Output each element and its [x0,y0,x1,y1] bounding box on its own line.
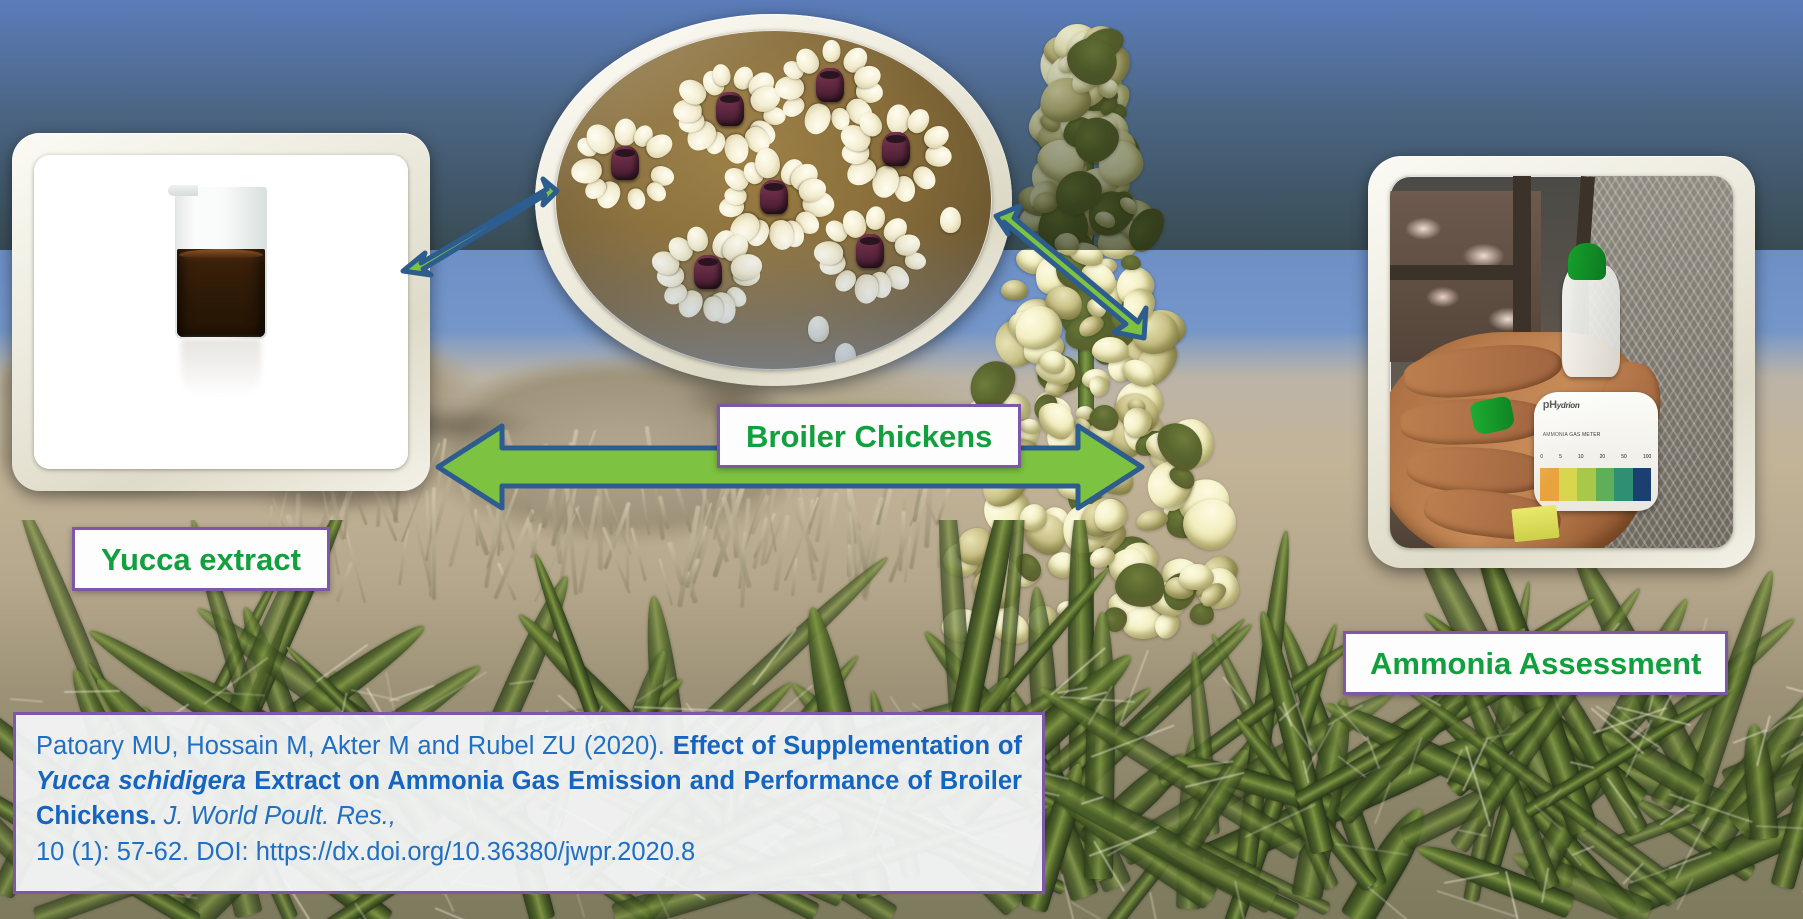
ph-swatch [1559,468,1578,501]
ph-swatch [1540,468,1559,501]
yucca-extract-image [34,155,408,469]
leaf-filament [1149,892,1165,919]
chick-feeder [856,234,884,268]
citation-paragraph-2: 10 (1): 57-62. DOI: https://dx.doi.org/1… [36,835,1022,870]
broiler-chickens-panel[interactable] [535,14,1012,386]
ph-test-card: pHydrion AMMONIA GAS METER 05102050100 [1534,392,1657,511]
extract-liquid [177,249,265,337]
ph-scale-value: 0 [1540,454,1543,460]
ph-scale-numbers: 05102050100 [1540,454,1651,460]
ammonia-assessment-image: pHydrion AMMONIA GAS METER 05102050100 [1390,176,1733,548]
leaf-filament [435,907,515,919]
ph-scale-value: 100 [1643,454,1651,460]
ph-brand-ph: pH [1543,399,1557,411]
ph-swatch [1596,468,1615,501]
chick-feeder [760,180,788,214]
broiler-chickens-image [555,30,992,370]
beaker [175,187,267,339]
leaf-filament [10,698,43,703]
citation-doi-label: DOI: [196,838,248,866]
reagent-bottle [1562,265,1620,377]
citation-box: Patoary MU, Hossain M, Akter M and Rubel… [13,712,1045,894]
label-broiler-chickens-text: Broiler Chickens [746,421,992,452]
beaker-spout [168,185,198,196]
beaker-reflection [181,339,261,397]
ammonia-assessment-panel[interactable]: pHydrion AMMONIA GAS METER 05102050100 [1368,156,1755,568]
citation-paragraph: Patoary MU, Hossain M, Akter M and Rubel… [36,729,1022,835]
ph-scale-value: 20 [1600,454,1606,460]
ph-swatch [1633,468,1652,501]
label-broiler-chickens: Broiler Chickens [717,404,1021,468]
citation-title-part1: Effect of Supplementation of [673,732,1022,760]
ph-scale-value: 5 [1559,454,1562,460]
ph-color-swatches [1540,468,1651,501]
yucca-extract-panel[interactable] [12,133,430,491]
citation-doi-url[interactable]: https://dx.doi.org/10.36380/jwpr.2020.8 [256,838,695,866]
citation-journal: J. World Poult. Res., [164,802,396,830]
ph-scale-value: 10 [1578,454,1584,460]
chick-feeder [716,92,744,126]
label-yucca-extract: Yucca extract [72,527,330,591]
chick-feeder [694,255,722,289]
liquid-surface [179,249,263,258]
ph-swatch [1614,468,1633,501]
citation-authors: Patoary MU, Hossain M, Akter M and Rubel… [36,732,665,760]
chick-feeder [611,146,639,180]
ph-brand-label: pHydrion [1543,399,1580,411]
ph-subtitle: AMMONIA GAS METER [1543,432,1601,438]
chick-feeder [816,68,844,102]
ph-swatch [1577,468,1596,501]
graphical-abstract-poster: pHydrion AMMONIA GAS METER 05102050100 Y… [0,0,1803,919]
label-ammonia-assessment-text: Ammonia Assessment [1370,648,1701,679]
ph-brand-ydrion: ydrion [1557,401,1580,410]
label-ammonia-assessment: Ammonia Assessment [1343,631,1728,695]
citation-title-species: Yucca schidigera [36,767,246,795]
label-yucca-extract-text: Yucca extract [101,544,301,575]
arrow-chickens-ammonia [986,200,1166,355]
bottle-cap-green [1568,243,1606,280]
citation-volume-pages: 10 (1): 57-62. [36,838,189,866]
chick-feeder [882,132,910,166]
ph-scale-value: 50 [1621,454,1627,460]
shed-rail-horizontal [1390,265,1527,280]
arrow-extract-chickens [395,175,560,285]
test-strip [1512,505,1560,543]
